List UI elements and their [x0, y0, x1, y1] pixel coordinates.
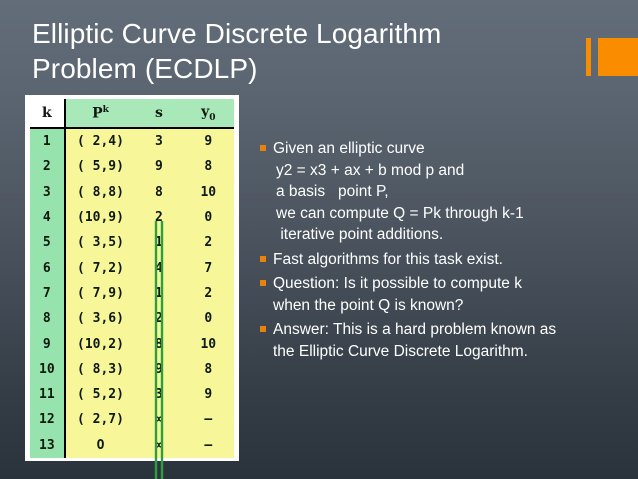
table-cell-pk: ( 5,9) — [65, 154, 136, 179]
table-cell-y0: 8 — [183, 154, 234, 179]
table-cell-s: 9 — [135, 357, 182, 382]
column-header-k: k — [30, 99, 65, 128]
column-header-y0: y0 — [183, 99, 234, 128]
bullet-continuation: the Elliptic Curve Discrete Logarithm. — [258, 341, 630, 363]
bullet-block-0: Given an elliptic curve y2 = x3 + ax + b… — [258, 138, 630, 246]
list-item: Fast algorithms for this task exist. — [258, 249, 630, 271]
table-cell-s: ∞ — [135, 433, 182, 458]
table-row: 13O∞– — [30, 433, 234, 458]
table-cell-k: 13 — [30, 433, 65, 458]
orange-corner-decoration — [586, 38, 638, 76]
table-cell-s: 9 — [135, 154, 182, 179]
table-row: 7( 7,9)12 — [30, 281, 234, 306]
table-cell-k: 6 — [30, 255, 65, 280]
bullet-square-icon — [260, 326, 266, 332]
deco-thin-bar — [586, 38, 591, 76]
table-cell-y0: – — [183, 433, 234, 458]
bullet-text: Answer: This is a hard problem known as — [273, 321, 556, 338]
table-row: 1( 2,4)39 — [30, 128, 234, 154]
table-cell-y0: 0 — [183, 205, 234, 230]
table-cell-pk: ( 8,3) — [65, 357, 136, 382]
table-cell-k: 1 — [30, 128, 65, 154]
table-cell-y0: 7 — [183, 255, 234, 280]
table-cell-s: 1 — [135, 281, 182, 306]
bullet-block-2: Question: Is it possible to compute k wh… — [258, 273, 630, 316]
slide-canvas: Elliptic Curve Discrete Logarithm Proble… — [0, 0, 638, 479]
table-cell-s: 8 — [135, 180, 182, 205]
table-cell-pk: ( 3,6) — [65, 306, 136, 331]
elliptic-curve-table-frame: k Pk s y0 1( 2,4)392( 5,9)983( 8,8)8104(… — [25, 95, 239, 461]
table-cell-pk: ( 7,2) — [65, 255, 136, 280]
column-header-pk-base: P — [92, 105, 103, 121]
table-row: 10( 8,3)98 — [30, 357, 234, 382]
table-row: 2( 5,9)98 — [30, 154, 234, 179]
table-cell-pk: ( 2,4) — [65, 128, 136, 154]
table-cell-pk: (10,2) — [65, 331, 136, 356]
column-header-pk: Pk — [65, 99, 136, 128]
table-cell-k: 9 — [30, 331, 65, 356]
page-title: Elliptic Curve Discrete Logarithm Proble… — [32, 16, 552, 86]
table-cell-y0: – — [183, 407, 234, 432]
table-cell-s: 4 — [135, 255, 182, 280]
table-cell-pk: (10,9) — [65, 205, 136, 230]
table-cell-k: 5 — [30, 230, 65, 255]
table-cell-s: 2 — [135, 205, 182, 230]
table-cell-pk: ( 7,9) — [65, 281, 136, 306]
bullet-subline: iterative point additions. — [258, 224, 630, 246]
table-cell-y0: 10 — [183, 180, 234, 205]
table-row: 8( 3,6)20 — [30, 306, 234, 331]
elliptic-curve-multiples-table: k Pk s y0 1( 2,4)392( 5,9)983( 8,8)8104(… — [30, 99, 234, 458]
table-row: 11( 5,2)39 — [30, 382, 234, 407]
table-row: 6( 7,2)47 — [30, 255, 234, 280]
table-cell-k: 3 — [30, 180, 65, 205]
table-cell-k: 12 — [30, 407, 65, 432]
table-cell-pk: ( 8,8) — [65, 180, 136, 205]
table-header: k Pk s y0 — [30, 99, 234, 128]
bullet-square-icon — [260, 145, 266, 151]
bullet-subline: y2 = x3 + ax + b mod p and — [258, 160, 630, 182]
table-row: 3( 8,8)810 — [30, 180, 234, 205]
table-cell-y0: 10 — [183, 331, 234, 356]
table-cell-s: ∞ — [135, 407, 182, 432]
table-cell-k: 11 — [30, 382, 65, 407]
column-header-y-subscript: 0 — [209, 112, 215, 122]
bullet-list: Given an elliptic curve y2 = x3 + ax + b… — [258, 138, 630, 362]
table-cell-s: 2 — [135, 306, 182, 331]
table-cell-pk: ( 5,2) — [65, 382, 136, 407]
table-cell-k: 4 — [30, 205, 65, 230]
table-cell-y0: 8 — [183, 357, 234, 382]
table-cell-y0: 9 — [183, 128, 234, 154]
bullet-subline: a basis point P, — [258, 181, 630, 203]
column-header-pk-exponent: k — [103, 105, 109, 115]
column-header-y-base: y — [201, 104, 209, 120]
table-cell-y0: 2 — [183, 230, 234, 255]
bullet-text: Given an elliptic curve — [273, 140, 425, 157]
table-cell-y0: 9 — [183, 382, 234, 407]
bullet-continuation: when the point Q is known? — [258, 295, 630, 317]
table-cell-pk: ( 3,5) — [65, 230, 136, 255]
table-row: 9(10,2)810 — [30, 331, 234, 356]
bullet-text: Question: Is it possible to compute k — [273, 275, 522, 292]
list-item: Given an elliptic curve — [258, 138, 630, 160]
table-cell-k: 2 — [30, 154, 65, 179]
column-header-s: s — [135, 99, 182, 128]
table-cell-pk: O — [65, 433, 136, 458]
deco-main-block — [598, 38, 638, 76]
table-cell-s: 3 — [135, 128, 182, 154]
table-cell-k: 7 — [30, 281, 65, 306]
table-header-row: k Pk s y0 — [30, 99, 234, 128]
table-cell-s: 1 — [135, 230, 182, 255]
bullet-subline: we can compute Q = Pk through k-1 — [258, 203, 630, 225]
table-cell-k: 10 — [30, 357, 65, 382]
table-cell-k: 8 — [30, 306, 65, 331]
bullet-text: Fast algorithms for this task exist. — [273, 251, 503, 268]
table-row: 12( 2,7)∞– — [30, 407, 234, 432]
bullet-square-icon — [260, 256, 266, 262]
bullet-square-icon — [260, 280, 266, 286]
table-cell-s: 8 — [135, 331, 182, 356]
list-item: Answer: This is a hard problem known as — [258, 319, 630, 341]
table-cell-pk: ( 2,7) — [65, 407, 136, 432]
bullet-block-3: Answer: This is a hard problem known as … — [258, 319, 630, 362]
table-cell-y0: 0 — [183, 306, 234, 331]
table-cell-s: 3 — [135, 382, 182, 407]
table-row: 5( 3,5)12 — [30, 230, 234, 255]
list-item: Question: Is it possible to compute k — [258, 273, 630, 295]
bullet-block-1: Fast algorithms for this task exist. — [258, 249, 630, 271]
table-cell-y0: 2 — [183, 281, 234, 306]
table-body: 1( 2,4)392( 5,9)983( 8,8)8104(10,9)205( … — [30, 128, 234, 458]
table-row: 4(10,9)20 — [30, 205, 234, 230]
